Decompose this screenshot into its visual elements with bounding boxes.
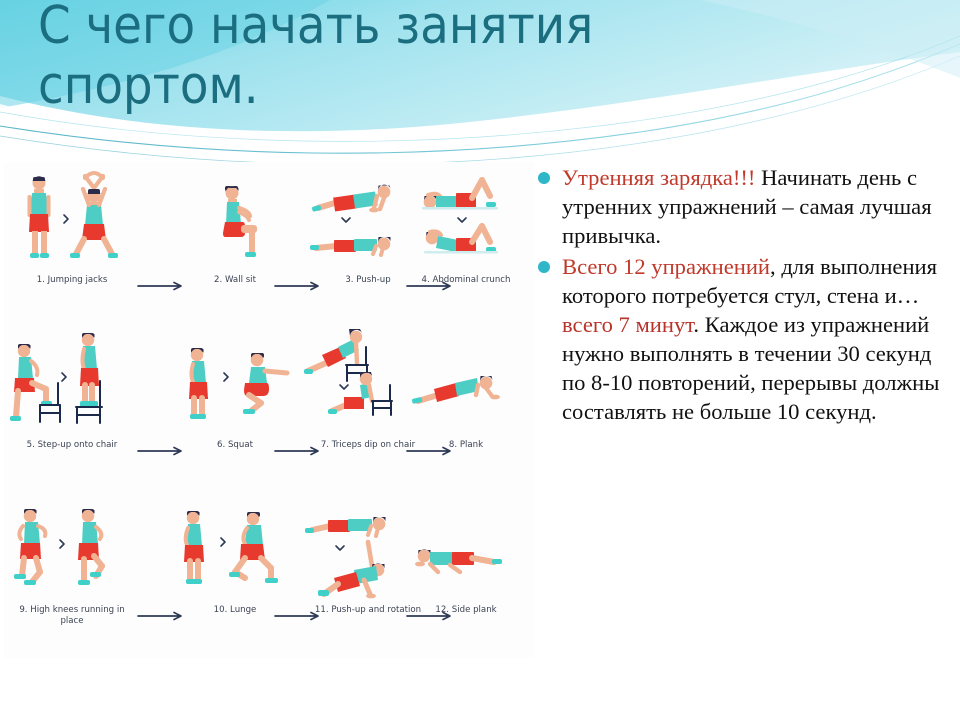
exercise-cell-step-up-onto-chair[interactable]: 5. Step-up onto chair [6, 327, 138, 492]
exercise-cell-jumping-jacks[interactable]: 1. Jumping jacks [6, 162, 138, 327]
bullet-dot-icon [538, 172, 550, 184]
bullet-dot-icon [538, 261, 550, 273]
bullet-2-highlight-2: всего 7 минут [562, 312, 693, 337]
slide-title: С чего начать занятия спортом. [38, 0, 738, 117]
exercise-label: 5. Step-up onto chair [10, 440, 134, 451]
exercise-cell-plank[interactable]: 8. Plank [400, 327, 532, 492]
exercise-label: 12. Side plank [404, 605, 528, 616]
side-plank-illustration [400, 492, 532, 604]
exercise-label: 1. Jumping jacks [10, 275, 134, 286]
presentation-slide: С чего начать занятия спортом. [0, 0, 960, 720]
content-text-column: Утренняя зарядка!!! Начинать день с утре… [536, 163, 952, 428]
exercise-cell-side-plank[interactable]: 12. Side plank [400, 492, 532, 657]
exercise-chart-panel: 1. Jumping jacks [4, 162, 534, 658]
squat-illustration [169, 327, 301, 439]
step-up-onto-chair-illustration [6, 327, 138, 439]
exercise-cell-high-knees[interactable]: 9. High knees running in place [6, 492, 138, 657]
exercise-row: 5. Step-up onto chair [4, 327, 534, 492]
jumping-jacks-illustration [6, 162, 138, 274]
bullet-1-highlight: Утренняя зарядка!!! [562, 165, 755, 190]
abdominal-crunch-illustration [400, 162, 532, 274]
exercise-label: 8. Plank [404, 440, 528, 451]
exercise-row: 1. Jumping jacks [4, 162, 534, 327]
exercise-label: 9. High knees running in place [10, 605, 134, 628]
exercise-row: 9. High knees running in place [4, 492, 534, 657]
exercise-cell-abdominal-crunch[interactable]: 4. Abdominal crunch [400, 162, 532, 327]
wall-sit-illustration [169, 162, 301, 274]
bullet-2-highlight-1: Всего 12 упражнений [562, 254, 770, 279]
exercise-cell-lunge[interactable]: 10. Lunge [169, 492, 301, 657]
bullet-item-2: Всего 12 упражнений, для выполнения кото… [536, 252, 952, 426]
plank-illustration [400, 327, 532, 439]
lunge-illustration [169, 492, 301, 604]
high-knees-running-in-place-illustration [6, 492, 138, 604]
exercise-label: 4. Abdominal crunch [404, 275, 528, 286]
exercise-cell-wall-sit[interactable]: 2. Wall sit [169, 162, 301, 327]
exercise-cell-squat[interactable]: 6. Squat [169, 327, 301, 492]
bullet-item-1: Утренняя зарядка!!! Начинать день с утре… [536, 163, 952, 250]
